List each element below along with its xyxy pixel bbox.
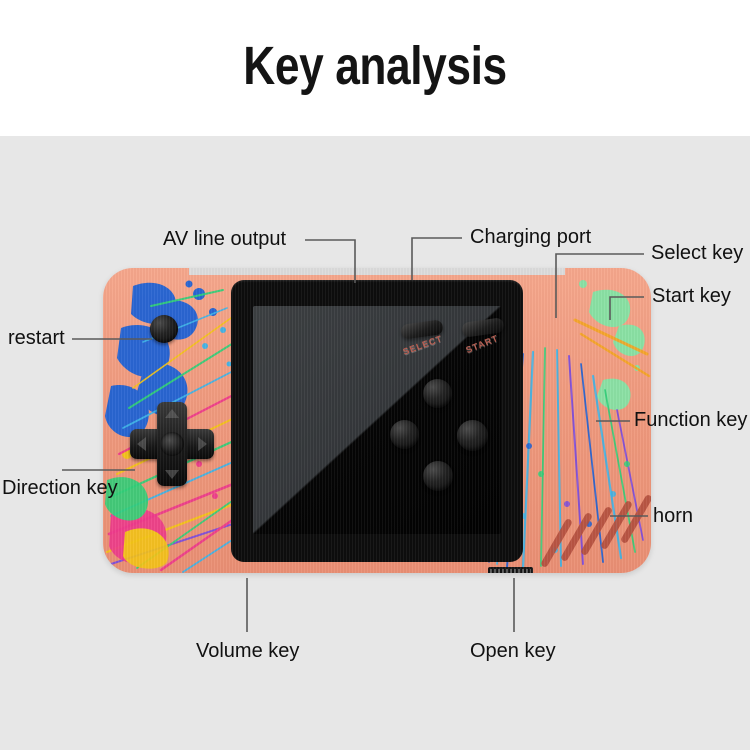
speaker-grille xyxy=(551,496,651,558)
callout-label-restart: restart xyxy=(8,328,65,348)
callout-label-start-key: Start key xyxy=(652,286,731,306)
diagram-stage: SELECT START xyxy=(0,136,750,750)
callout-label-horn: horn xyxy=(653,506,693,526)
restart-button[interactable] xyxy=(150,315,178,343)
game-console-body: SELECT START xyxy=(103,268,651,573)
console-top-notch xyxy=(189,268,565,275)
callout-label-charging-port: Charging port xyxy=(470,227,591,247)
screen-display xyxy=(253,306,501,534)
function-button-left[interactable] xyxy=(390,420,419,449)
open-key-switch[interactable] xyxy=(488,567,533,573)
key-analysis-diagram: Key analysis xyxy=(0,0,750,750)
dpad-right-arrow-icon[interactable] xyxy=(198,437,207,451)
function-button-right[interactable] xyxy=(457,420,488,451)
callout-label-av-line-output: AV line output xyxy=(163,229,286,249)
callout-label-direction-key: Direction key xyxy=(2,478,118,498)
dpad-left-arrow-icon[interactable] xyxy=(137,437,146,451)
dpad-up-arrow-icon[interactable] xyxy=(165,409,179,418)
callout-label-select-key: Select key xyxy=(651,243,743,263)
dpad-down-arrow-icon[interactable] xyxy=(165,470,179,479)
function-button-top[interactable] xyxy=(423,379,452,408)
callout-label-function-key: Function key xyxy=(634,410,747,430)
callout-label-volume-key: Volume key xyxy=(196,641,299,661)
callout-label-open-key: Open key xyxy=(470,641,556,661)
function-button-bottom[interactable] xyxy=(423,461,453,491)
header-band: Key analysis xyxy=(0,0,750,136)
direction-pad[interactable] xyxy=(130,402,214,486)
page-title: Key analysis xyxy=(68,38,683,95)
dpad-center[interactable] xyxy=(160,432,184,456)
